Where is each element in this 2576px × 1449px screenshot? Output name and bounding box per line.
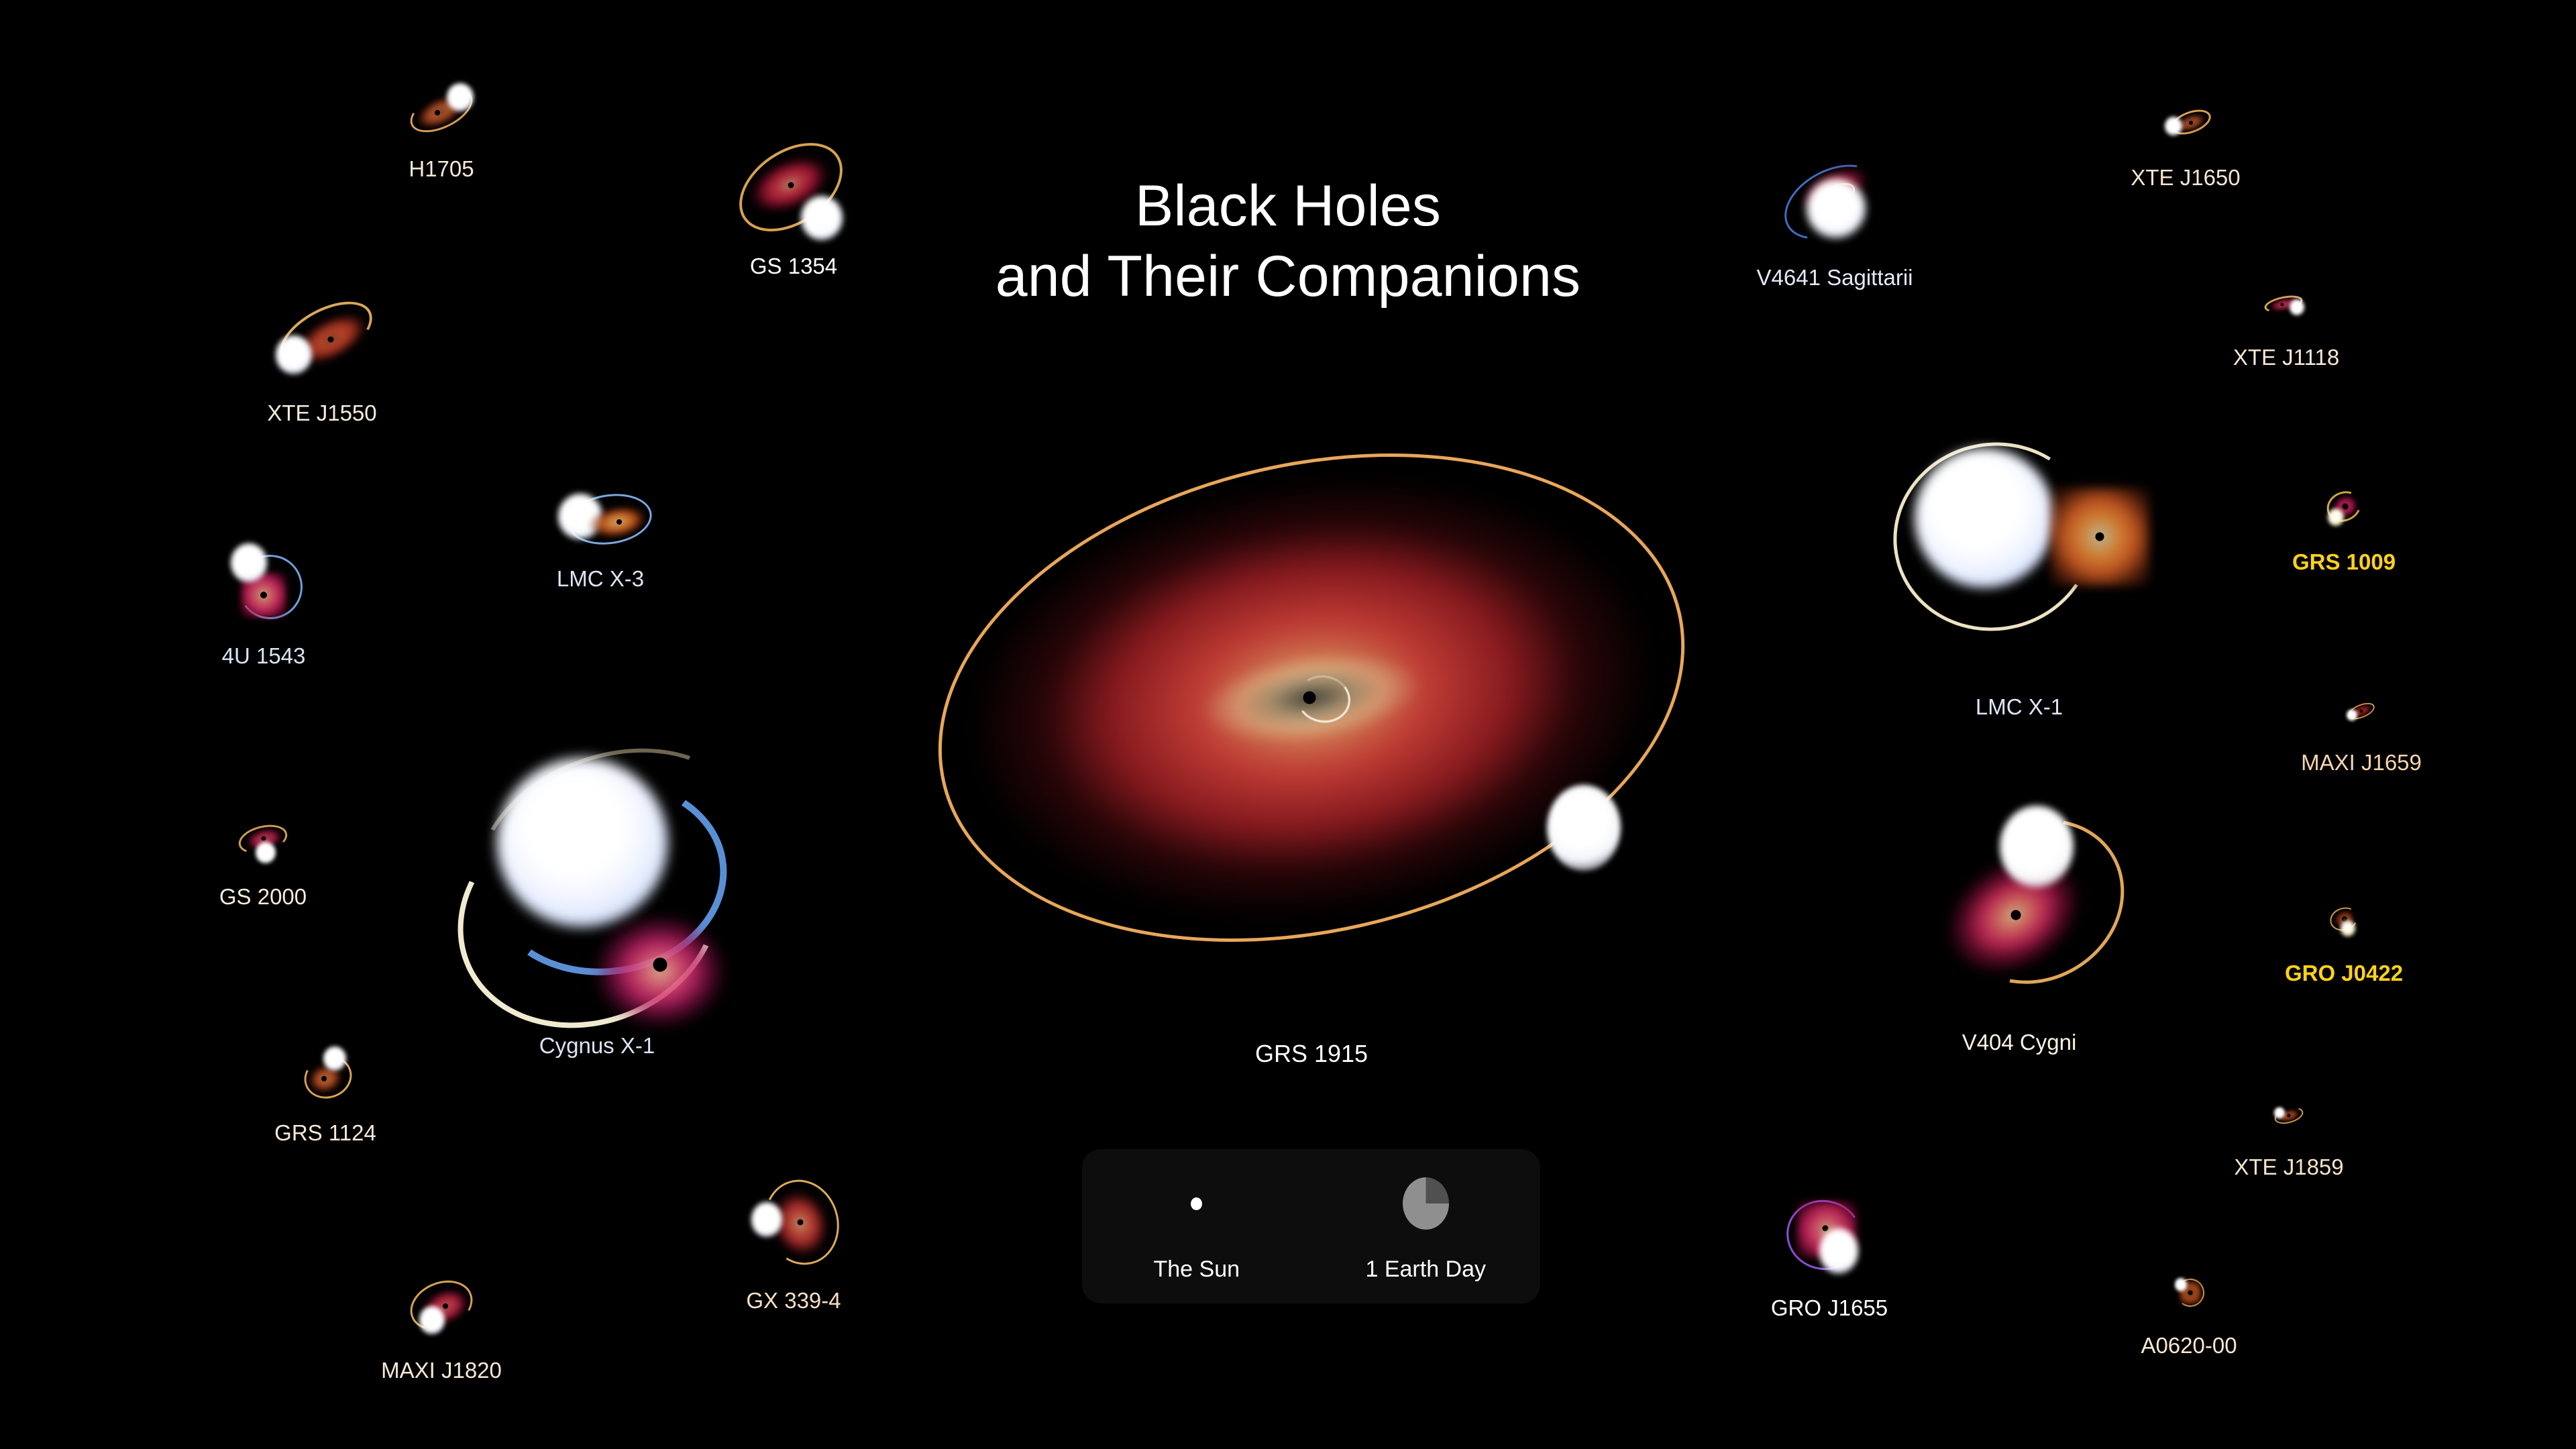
black-hole	[262, 837, 266, 841]
earth-day-pie-icon	[1403, 1177, 1449, 1230]
companion-star	[2274, 1108, 2285, 1119]
companion-star	[1915, 448, 2054, 588]
system-label: LMC X-3	[557, 566, 644, 592]
system-label: XTE J1650	[2131, 165, 2240, 191]
system-label: GRS 1124	[274, 1120, 376, 1146]
system-label: GRS 1915	[1255, 1040, 1368, 1068]
system-label: V4641 Sagittarii	[1757, 265, 1913, 290]
black-hole	[798, 1220, 804, 1226]
companion-star	[2175, 1278, 2187, 1291]
companion-star	[801, 196, 843, 240]
system-label: GS 2000	[219, 884, 307, 910]
black-hole	[321, 1076, 327, 1081]
system-label: XTE J1550	[267, 400, 376, 426]
black-hole	[2288, 1114, 2291, 1118]
companion-star	[1547, 785, 1621, 871]
companion-star	[497, 758, 668, 927]
companion-star	[323, 1046, 346, 1071]
companion-star	[751, 1202, 782, 1237]
system-label: V404 Cygni	[1962, 1030, 2077, 1055]
black-hole	[2189, 121, 2193, 125]
black-hole	[1823, 1226, 1829, 1232]
black-hole	[616, 519, 622, 525]
system-label: LMC X-1	[1976, 694, 2063, 720]
legend-label-sun: The Sun	[1153, 1258, 1240, 1281]
companion-star	[447, 83, 474, 111]
companion-star	[231, 543, 267, 582]
black-hole	[2360, 710, 2363, 713]
companion-star	[2165, 117, 2182, 136]
companion-star	[1807, 179, 1866, 238]
system-label: MAXI J1820	[381, 1358, 502, 1383]
black-hole	[788, 182, 794, 189]
earth-day-glyph-wrap	[1311, 1149, 1541, 1258]
system-label: GS 1354	[750, 254, 837, 279]
companion-star	[256, 842, 276, 863]
system-label: GRO J1655	[1771, 1295, 1888, 1321]
black-hole	[2096, 533, 2104, 541]
companion-star	[2290, 299, 2304, 315]
sun-glyph-wrap	[1082, 1149, 1311, 1258]
companion-star	[276, 335, 312, 374]
sun-dot-icon	[1191, 1197, 1202, 1210]
companion-star	[2328, 508, 2344, 526]
black-hole	[435, 110, 440, 115]
system-label: 4U 1543	[222, 643, 306, 669]
black-hole	[653, 958, 667, 972]
black-hole	[2343, 504, 2349, 510]
legend-panel: The Sun 1 Earth Day	[1082, 1149, 1540, 1303]
legend-item-earth-day: 1 Earth Day	[1311, 1149, 1541, 1303]
system-label: H1705	[409, 156, 474, 182]
companion-star	[2000, 806, 2074, 888]
system-label: GX 339-4	[746, 1288, 841, 1313]
system-label: XTE J1118	[2233, 345, 2339, 370]
system-label: XTE J1859	[2234, 1155, 2343, 1180]
companion-star	[419, 1306, 445, 1334]
system-label: GRS 1009	[2292, 549, 2396, 575]
system-label: GRO J0422	[2285, 961, 2403, 986]
companion-star	[2347, 710, 2357, 721]
black-hole	[260, 592, 267, 598]
system-label: A0620-00	[2141, 1333, 2237, 1358]
legend-label-earth-day: 1 Earth Day	[1365, 1258, 1486, 1281]
legend-item-sun: The Sun	[1082, 1149, 1311, 1303]
black-hole	[443, 1303, 448, 1309]
companion-star	[1819, 1228, 1858, 1274]
black-hole	[328, 337, 334, 343]
page-title: Black Holes and Their Companions	[0, 171, 2576, 312]
black-hole	[2188, 1291, 2193, 1295]
system-label: Cygnus X-1	[539, 1033, 655, 1059]
system-label: MAXI J1659	[2301, 750, 2422, 775]
visualization-canvas: Black Holes and Their Companions GRS 191…	[0, 0, 2576, 1449]
black-hole	[2011, 910, 2021, 920]
companion-star	[2341, 920, 2355, 936]
black-hole	[2281, 303, 2284, 307]
